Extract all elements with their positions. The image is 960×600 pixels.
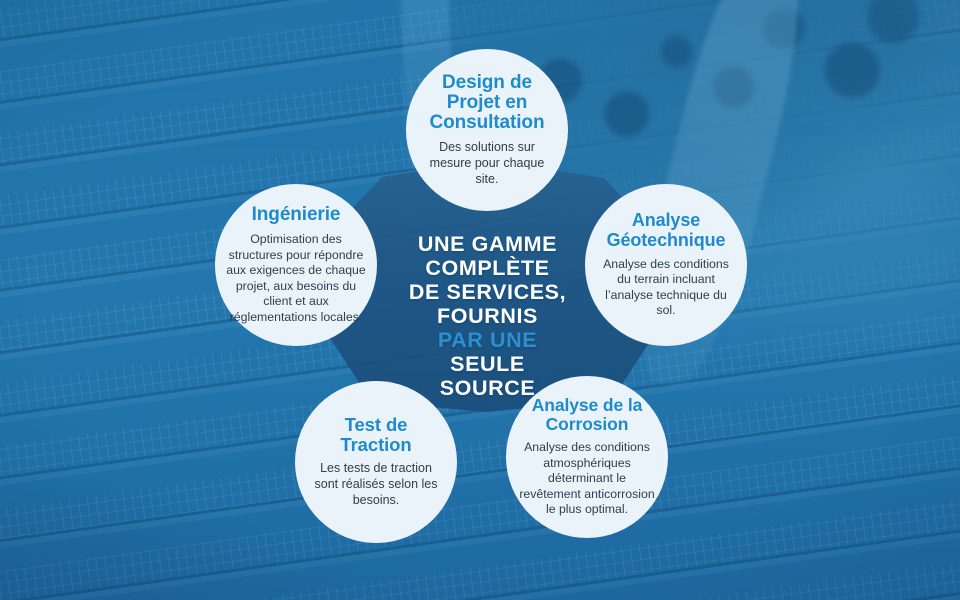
service-title-design: Design de Projet en Consultation [430, 73, 545, 133]
headline-line-2: COMPLÈTE [390, 256, 585, 280]
headline-line-3: DE SERVICES, [390, 280, 585, 304]
service-circle-traction[interactable]: Test de Traction Les tests de traction s… [295, 381, 457, 543]
center-headline: UNE GAMME COMPLÈTE DE SERVICES, FOURNIS … [390, 232, 585, 401]
service-circle-corrosion[interactable]: Analyse de la Corrosion Analyse des cond… [506, 376, 668, 538]
service-title-geotechnique: Analyse Géotechnique [607, 211, 726, 249]
headline-line-1: UNE GAMME [390, 232, 585, 256]
headline-line-4: FOURNIS [390, 304, 585, 328]
service-desc-corrosion: Analyse des conditions atmosphériques dé… [517, 440, 657, 517]
service-title-traction: Test de Traction [307, 415, 445, 454]
infographic-canvas: UNE GAMME COMPLÈTE DE SERVICES, FOURNIS … [0, 0, 960, 600]
service-desc-geotechnique: Analyse des conditions du terrain inclua… [597, 257, 735, 319]
service-title-ingenierie: Ingénierie [252, 205, 341, 225]
headline-accent: par une [390, 328, 585, 352]
headline-line-5: SEULE [390, 352, 585, 376]
service-desc-ingenierie: Optimisation des structures pour répondr… [225, 232, 367, 325]
service-circle-design[interactable]: Design de Projet en Consultation Des sol… [406, 49, 568, 211]
service-desc-traction: Les tests de traction sont réalisés selo… [307, 461, 445, 508]
service-title-corrosion: Analyse de la Corrosion [532, 396, 643, 433]
service-circle-geotechnique[interactable]: Analyse Géotechnique Analyse des conditi… [585, 184, 747, 346]
service-circle-ingenierie[interactable]: Ingénierie Optimisation des structures p… [215, 184, 377, 346]
service-desc-design: Des solutions sur mesure pour chaque sit… [420, 140, 554, 187]
